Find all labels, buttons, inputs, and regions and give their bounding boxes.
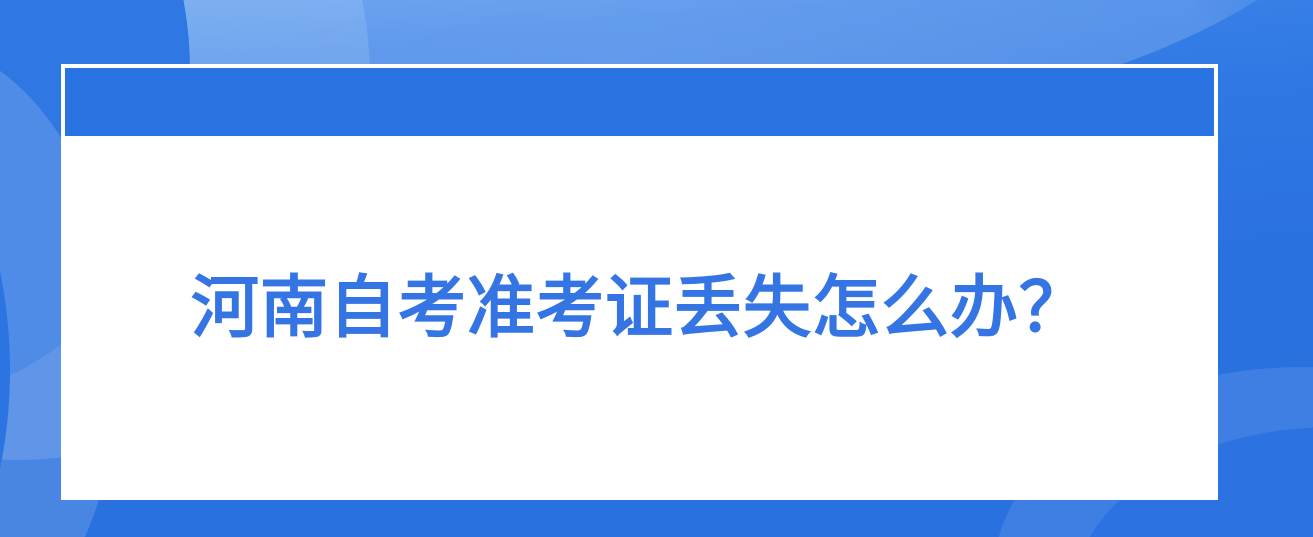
- card-body: 河南自考准考证丢失怎么办？: [65, 136, 1214, 496]
- card-header-bar: [65, 68, 1214, 136]
- page-title: 河南自考准考证丢失怎么办？: [191, 269, 1088, 347]
- banner-card-inner: 河南自考准考证丢失怎么办？: [65, 68, 1214, 496]
- banner-canvas: 河南自考准考证丢失怎么办？: [0, 0, 1313, 537]
- banner-card: 河南自考准考证丢失怎么办？: [61, 64, 1218, 500]
